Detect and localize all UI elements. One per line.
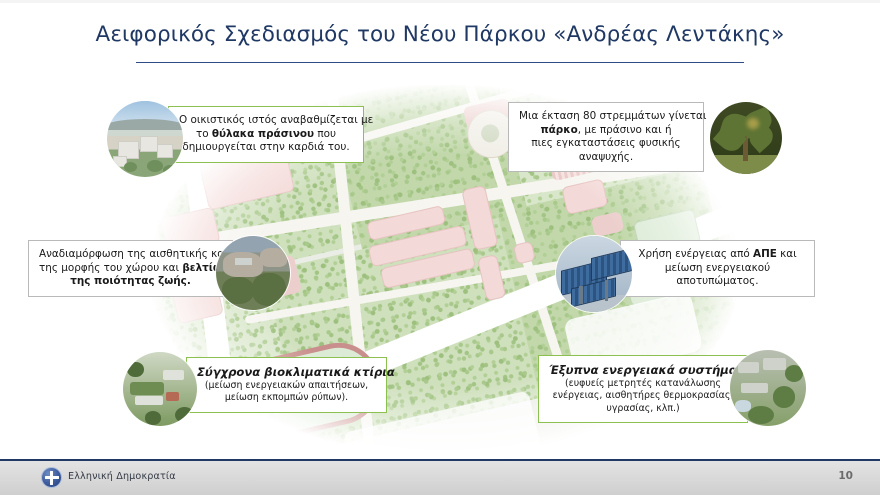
callout-bioclimatic-buildings: Σύγχρονα βιοκλιματικά κτίρια(μείωση ενερ… [186,357,387,413]
footer-bar: Ελληνική Δημοκρατία 10 [0,459,880,495]
solar-panels-photo [556,236,632,312]
forest-palm-photo [710,102,782,174]
callout-heading: Έξυπνα ενεργειακά συστήματα [549,363,737,378]
callout-residential-fabric: Ο οικιστικός ιστός αναβαθμίζεται μετο θύ… [168,106,364,163]
callout-line: πιες εγκαταστάσεις φυσικής [519,137,693,151]
callout-subline: υγρασίας, κλπ.) [549,403,737,415]
callout-line: της μορφής του χώρου και βελτίωση [39,262,222,276]
callout-line: μείωση ενεργειακού [631,262,804,276]
callout-subline: μείωση εκπομπών ρύπων). [197,392,376,404]
callout-line: αποτυπώματος. [631,275,804,289]
top-strip [0,0,880,3]
page-number: 10 [838,470,853,482]
footer-organization: Ελληνική Δημοκρατία [68,471,176,482]
callout-line: δημιουργείται στην καρδιά του. [179,141,353,155]
callout-heading: Σύγχρονα βιοκλιματικά κτίρια [197,365,376,380]
callout-line: της ποιότητας ζωής. [39,275,222,289]
athens-city-aerial-photo [107,101,183,177]
acropolis-aerial-photo [216,236,290,310]
callout-line: Ο οικιστικός ιστός αναβαθμίζεται με [179,114,353,128]
page-title-wrap: Αειφορικός Σχεδιασμός του Νέου Πάρκου «Α… [0,22,880,47]
callout-line: το θύλακα πράσινου που [179,128,353,142]
callout-line: Αναδιαμόρφωση της αισθητικής και [39,248,222,262]
park-village-photo [730,350,806,426]
callout-line: Χρήση ενέργειας από ΑΠΕ και [631,248,804,262]
slide-root: Αειφορικός Σχεδιασμός του Νέου Πάρκου «Α… [0,0,880,495]
title-divider [136,62,744,63]
callout-subline: ενέργειας, αισθητήρες θερμοκρασίας, [549,390,737,402]
callout-line: πάρκο, με πράσινο και ή [519,124,693,138]
page-title: Αειφορικός Σχεδιασμός του Νέου Πάρκου «Α… [0,22,880,47]
callout-subline: (ευφυείς μετρητές κατανάλωσης [549,378,737,390]
greek-republic-emblem-icon [42,468,61,487]
green-campus-photo [123,352,197,426]
callout-aesthetics-quality-of-life: Αναδιαμόρφωση της αισθητικής καιτης μορφ… [28,240,233,297]
callout-subline: (μείωση ενεργειακών απαιτήσεων, [197,380,376,392]
callout-smart-energy-systems: Έξυπνα ενεργειακά συστήματα(ευφυείς μετρ… [538,355,748,423]
callout-park-area: Μια έκταση 80 στρεμμάτων γίνεταιπάρκο, μ… [508,102,704,172]
callout-line: αναψυχής. [519,151,693,165]
callout-renewable-energy: Χρήση ενέργειας από ΑΠΕ καιμείωση ενεργε… [620,240,815,297]
callout-line: Μια έκταση 80 στρεμμάτων γίνεται [519,110,693,124]
